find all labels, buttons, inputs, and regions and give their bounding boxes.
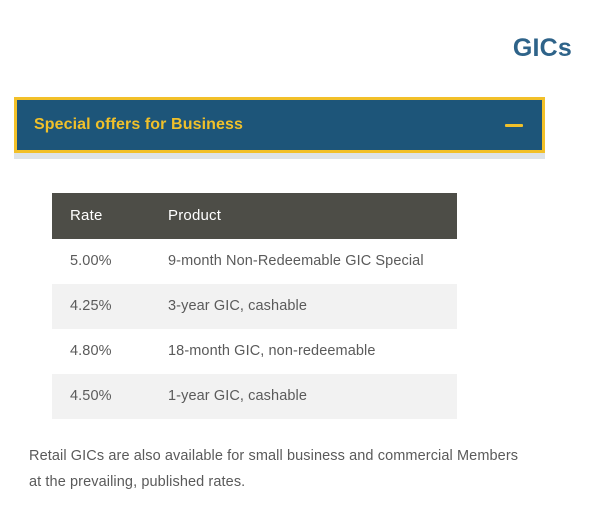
- footnote-text: Retail GICs are also available for small…: [29, 443, 529, 495]
- cell-product: 9-month Non-Redeemable GIC Special: [168, 239, 457, 284]
- table-row: 5.00% 9-month Non-Redeemable GIC Special: [52, 239, 457, 284]
- minus-icon-bar: [505, 124, 523, 127]
- table-header-row: Rate Product: [52, 193, 457, 239]
- cell-rate: 4.50%: [52, 374, 168, 419]
- accordion-special-offers[interactable]: Special offers for Business: [14, 97, 545, 153]
- cell-product: 3-year GIC, cashable: [168, 284, 457, 329]
- table-header: Rate Product: [52, 193, 457, 239]
- table-row: 4.25% 3-year GIC, cashable: [52, 284, 457, 329]
- cell-rate: 5.00%: [52, 239, 168, 284]
- accordion-header[interactable]: Special offers for Business: [20, 103, 539, 147]
- column-header-product: Product: [168, 193, 457, 239]
- gic-rates-table: Rate Product 5.00% 9-month Non-Redeemabl…: [52, 193, 457, 419]
- cell-product: 18-month GIC, non-redeemable: [168, 329, 457, 374]
- column-header-rate: Rate: [52, 193, 168, 239]
- accordion-title: Special offers for Business: [34, 116, 243, 134]
- table-row: 4.80% 18-month GIC, non-redeemable: [52, 329, 457, 374]
- cell-product: 1-year GIC, cashable: [168, 374, 457, 419]
- cell-rate: 4.80%: [52, 329, 168, 374]
- cell-rate: 4.25%: [52, 284, 168, 329]
- table-body: 5.00% 9-month Non-Redeemable GIC Special…: [52, 239, 457, 419]
- page-title: GICs: [513, 36, 572, 61]
- minus-icon[interactable]: [503, 114, 525, 136]
- table-row: 4.50% 1-year GIC, cashable: [52, 374, 457, 419]
